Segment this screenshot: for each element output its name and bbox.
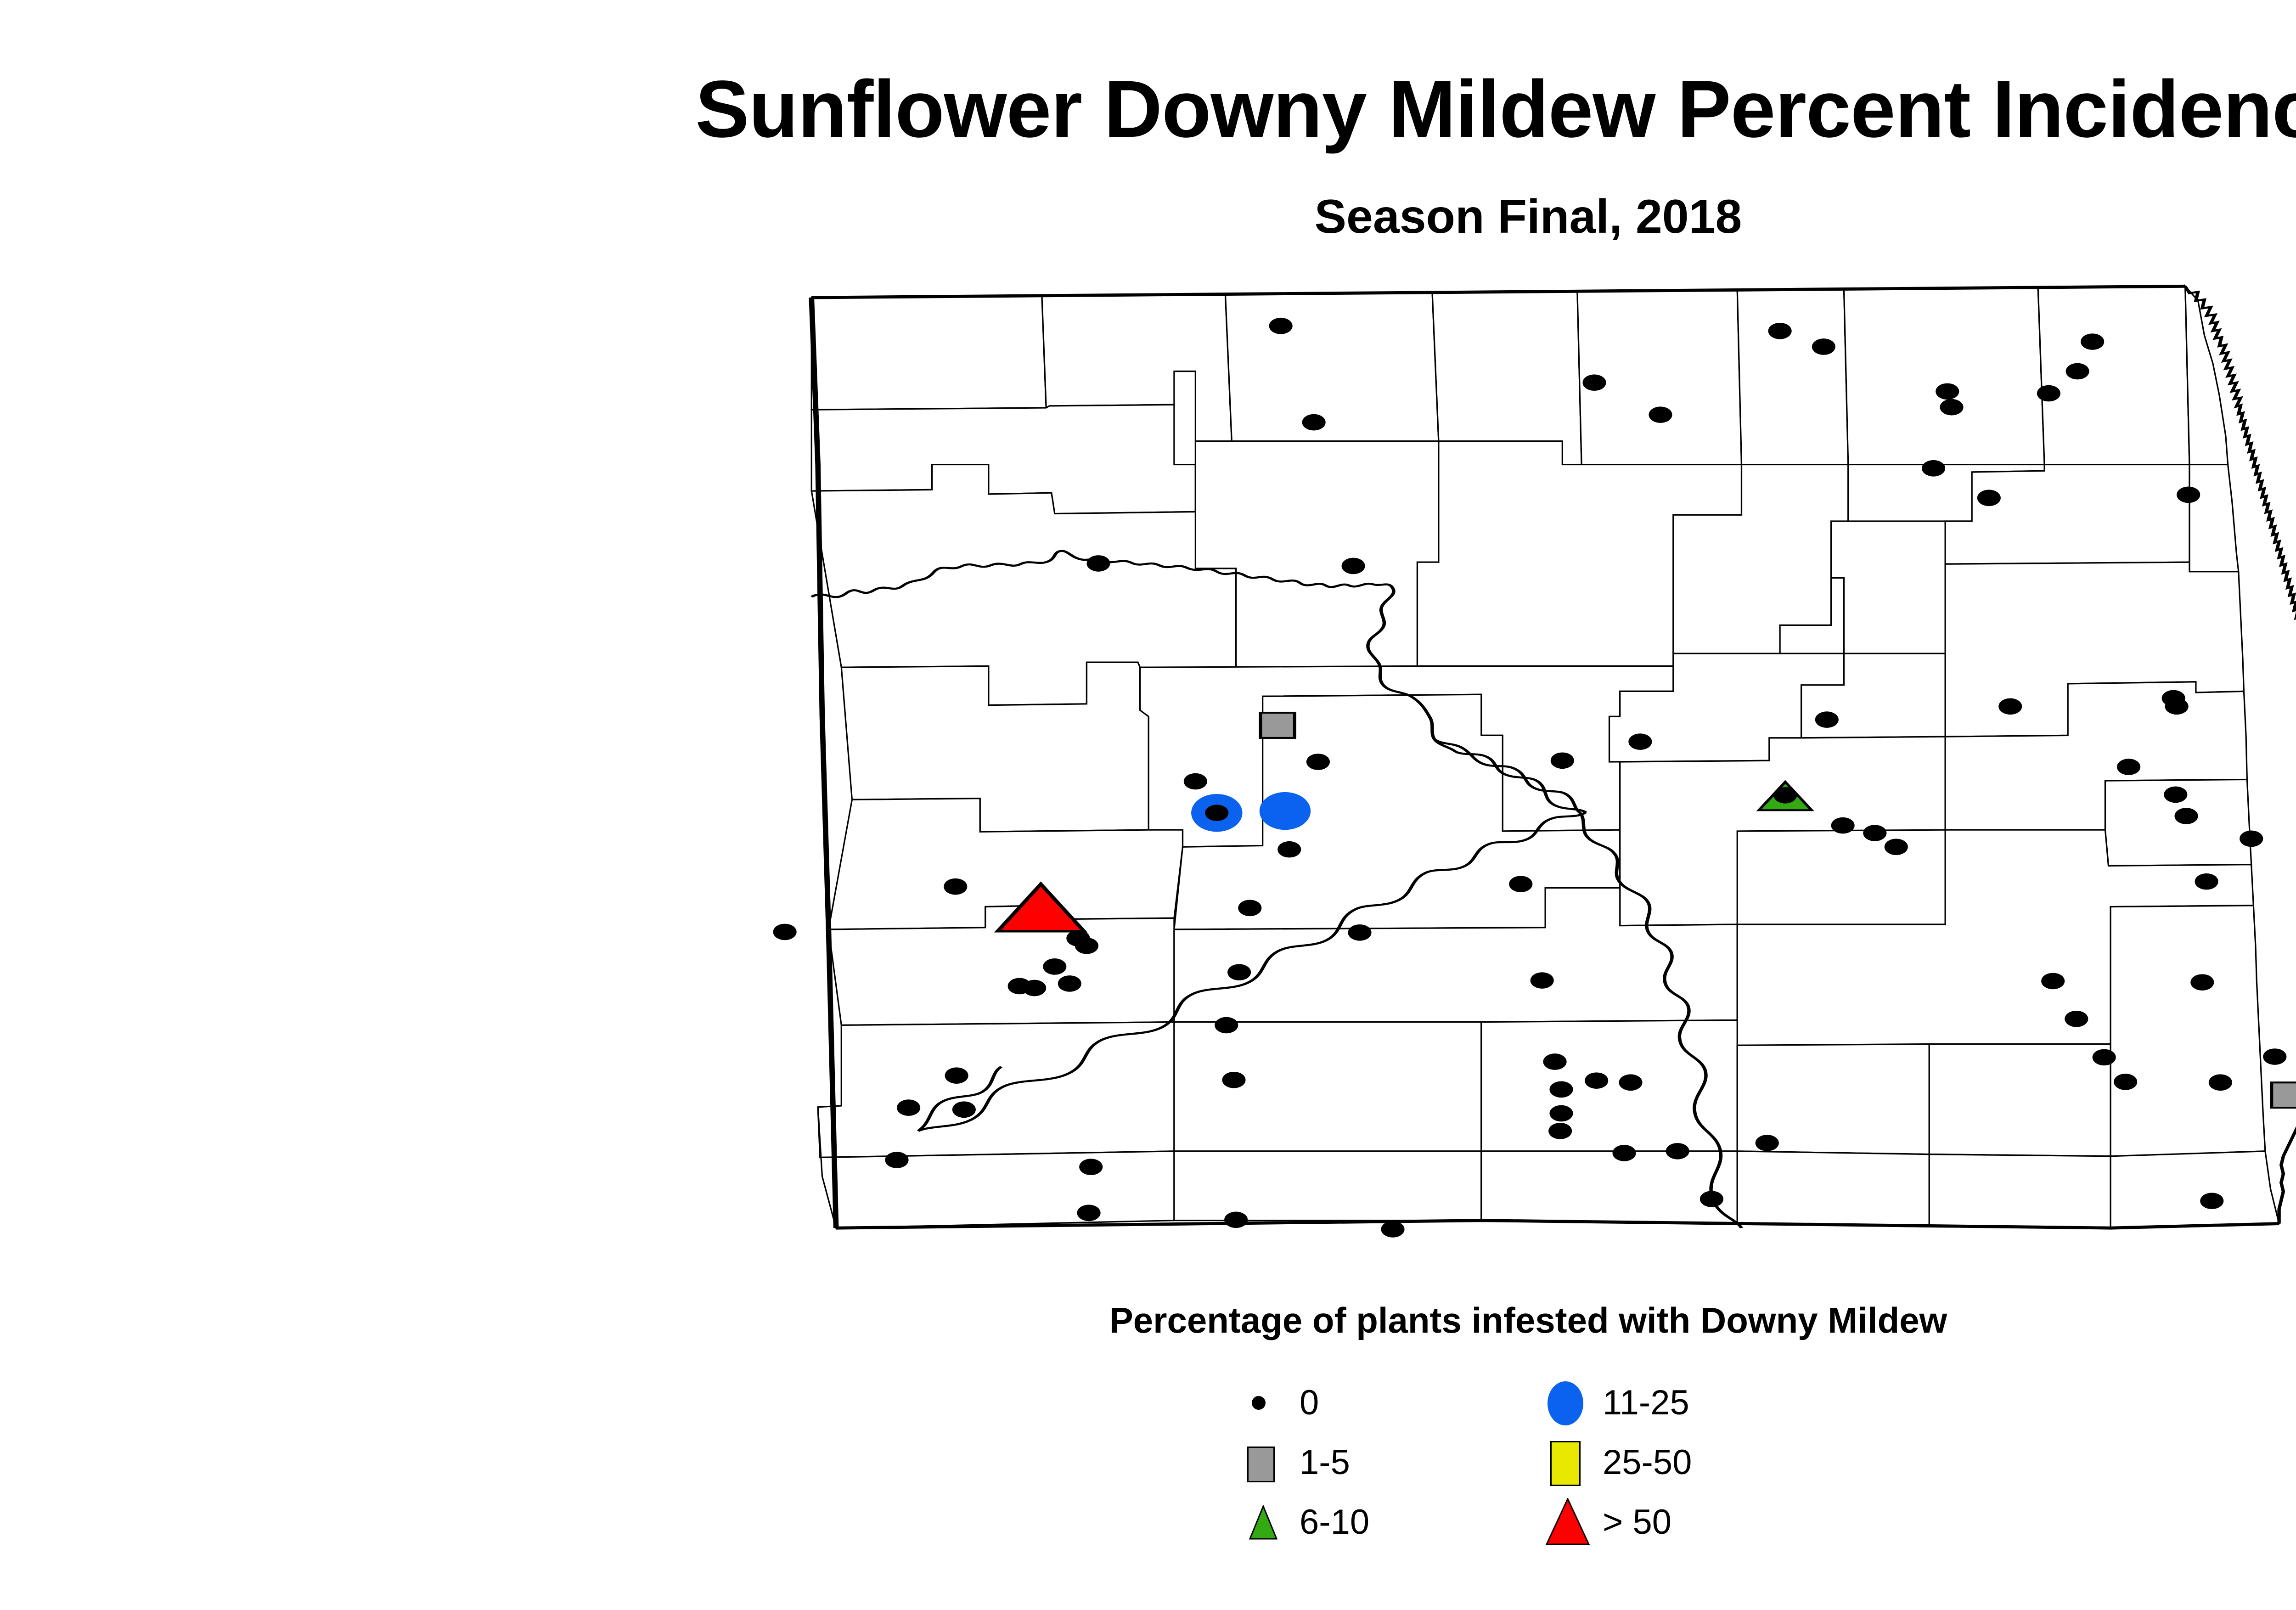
legend-label: > 50 [1603, 1505, 1671, 1540]
map-marker-0 [897, 1099, 920, 1116]
map-marker-0 [1205, 805, 1228, 821]
map-marker-0 [1224, 1211, 1248, 1228]
map-marker-0 [1700, 1191, 1723, 1207]
map-marker-0 [2165, 698, 2189, 715]
map-marker-0 [1215, 1017, 1238, 1034]
map-marker-0 [1548, 1123, 1572, 1139]
legend-dot-icon [1235, 1378, 1295, 1428]
map-marker-0 [2177, 487, 2200, 503]
legend: 01-56-1011-2525-50> 50 [1235, 1378, 1832, 1561]
map-marker-0 [1977, 490, 2001, 506]
legend-square-icon [1538, 1437, 1598, 1488]
map-marker-0 [1058, 975, 1081, 992]
legend-triangle-icon [1538, 1497, 1598, 1548]
map-marker-0 [1342, 558, 1365, 574]
map-marker-0 [885, 1152, 908, 1168]
circle-icon [1548, 1381, 1583, 1425]
map-marker-0 [1079, 1159, 1103, 1175]
legend-label: 6-10 [1300, 1505, 1369, 1540]
legend-triangle-icon [1235, 1497, 1295, 1548]
map-marker-0 [1619, 1074, 1642, 1091]
map-marker-0 [1582, 374, 1606, 391]
page-subtitle: Season Final, 2018 [0, 193, 2296, 241]
map-marker-0 [2066, 363, 2089, 380]
map-marker-0 [944, 878, 967, 895]
square-icon [1550, 1441, 1581, 1486]
map-svg [735, 276, 2296, 1258]
map-marker-0 [1043, 958, 1066, 975]
map-marker-0 [2117, 759, 2140, 775]
map-marker-0 [2093, 1049, 2116, 1066]
map-marker-0 [1863, 825, 1886, 841]
map-marker-0 [1773, 787, 1797, 804]
north-dakota-map [735, 276, 2296, 1258]
map-marker-0 [2114, 1074, 2137, 1090]
map-marker-0 [952, 1101, 976, 1118]
map-marker-0 [2195, 873, 2218, 890]
map-marker-0 [2190, 974, 2214, 991]
map-marker-11-25 [1260, 792, 1311, 830]
map-marker-0 [1815, 711, 1839, 728]
map-marker-0 [1509, 876, 1532, 892]
map-marker-0 [773, 924, 797, 940]
map-marker-0 [1549, 1105, 1573, 1122]
map-marker-0 [1075, 938, 1098, 954]
page-title: Sunflower Downy Mildew Percent Incidence [0, 69, 2296, 150]
legend-item-1-5[interactable]: 1-5 [1235, 1437, 1350, 1488]
map-marker-0 [1922, 460, 1945, 477]
legend-item-11-25[interactable]: 11-25 [1538, 1378, 1689, 1428]
map-marker-0 [1531, 972, 1554, 989]
map-marker-0 [945, 1067, 968, 1084]
map-marker-0 [1077, 1205, 1101, 1221]
map-marker-0 [1885, 839, 1908, 855]
map-marker-0 [2065, 1011, 2088, 1027]
legend-label: 25-50 [1603, 1445, 1692, 1480]
legend-label: 1-5 [1300, 1445, 1350, 1480]
map-marker-0 [1936, 383, 1959, 400]
map-marker-0 [1998, 698, 2022, 715]
legend-item-50[interactable]: > 50 [1538, 1497, 1671, 1548]
map-marker-0 [2164, 787, 2187, 803]
legend-label: 11-25 [1603, 1385, 1689, 1420]
map-marker-0 [1086, 555, 1110, 572]
map-marker-1-5 [1261, 713, 1294, 738]
map-marker-0 [1649, 406, 1672, 423]
map-marker-0 [2240, 831, 2263, 847]
map-marker-0 [2174, 808, 2198, 824]
legend-item-0[interactable]: 0 [1235, 1378, 1319, 1428]
map-marker-0 [1543, 1053, 1567, 1070]
map-marker-0 [1302, 414, 1326, 431]
triangle-icon [1249, 1505, 1277, 1540]
map-marker-0 [1238, 900, 1261, 916]
map-marker-1-5 [2272, 1082, 2296, 1108]
map-marker-0 [1277, 841, 1301, 858]
map-marker-0 [1269, 318, 1293, 334]
legend-caption: Percentage of plants infested with Downy… [0, 1300, 2296, 1341]
map-marker-0 [1940, 399, 1964, 416]
legend-circle-icon [1538, 1378, 1598, 1428]
county-boundaries [811, 286, 2279, 1228]
map-marker-0 [2209, 1074, 2232, 1091]
map-marker-0 [1023, 980, 1046, 996]
map-marker-0 [1812, 338, 1835, 355]
map-marker-0 [1666, 1143, 1689, 1160]
legend-label: 0 [1300, 1385, 1319, 1420]
map-marker-0 [1831, 817, 1855, 834]
map-marker-0 [1628, 733, 1652, 750]
map-marker-0 [2081, 333, 2104, 350]
map-marker-0 [2041, 973, 2065, 990]
map-marker-0 [1184, 773, 1207, 790]
map-marker-0 [1381, 1221, 1404, 1238]
legend-item-25-50[interactable]: 25-50 [1538, 1437, 1692, 1488]
map-marker-0 [1756, 1135, 1779, 1151]
map-marker-0 [1306, 754, 1330, 770]
map-marker-0 [2263, 1048, 2286, 1065]
legend-item-6-10[interactable]: 6-10 [1235, 1497, 1369, 1548]
map-marker-0 [2037, 385, 2060, 402]
map-marker-0 [1768, 323, 1792, 339]
map-page: Sunflower Downy Mildew Percent Incidence… [0, 0, 2296, 1610]
map-marker-0 [1549, 1081, 1573, 1098]
map-marker-0 [1222, 1072, 1245, 1088]
map-marker-0 [1227, 964, 1251, 980]
map-marker-0 [1348, 924, 1371, 941]
triangle-icon [1546, 1498, 1590, 1546]
map-marker-0 [1551, 752, 1574, 769]
map-marker-0 [1585, 1072, 1608, 1089]
map-marker-0 [1612, 1145, 1636, 1161]
legend-square-icon [1235, 1437, 1295, 1488]
dot-icon [1252, 1396, 1266, 1410]
square-icon [1247, 1447, 1275, 1482]
map-marker-0 [2200, 1193, 2223, 1209]
